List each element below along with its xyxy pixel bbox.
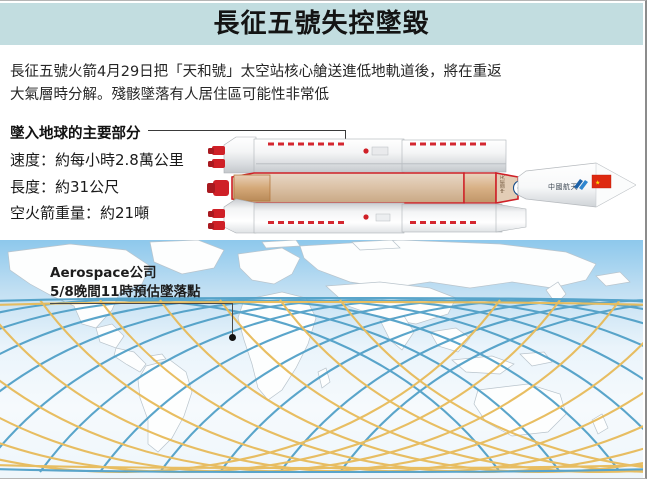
svg-text:中國航天: 中國航天 [548,182,578,191]
impact-leader-line-vertical [232,303,233,337]
stat-speed: 速度：約每小時2.8萬公里 [10,147,184,174]
stat-length: 長度：約31公尺 [10,174,184,201]
lede-paragraph: 長征五號火箭4月29日把「天和號」太空站核心艙送進低地軌道後，將在重返 大氣層時… [10,61,632,107]
infographic-page: 長征五號失控墜毀 長征五號火箭4月29日把「天和號」太空站核心艙送進低地軌道後，… [0,0,647,479]
impact-annotation-line-1: Aerospace公司 [50,264,201,283]
rocket-illustration: 中國航天 [196,133,636,237]
page-title: 長征五號失控墜毀 [0,3,643,45]
svg-text:★: ★ [595,180,600,187]
china-flag: ★ [592,175,611,188]
impact-annotation-line-2: 5/8晚間11時預估墜落點 [50,283,201,302]
impact-point-marker [229,334,236,341]
svg-text:中國航天: 中國航天 [499,175,506,193]
lede-line-2: 大氣層時分解。殘骸墜落有人居住區可能性非常低 [10,84,632,107]
rocket-core-stage: 中國航天 [207,173,529,203]
stats-heading: 墜入地球的主要部分 [10,122,141,143]
lede-line-1: 長征五號火箭4月29日把「天和號」太空站核心艙送進低地軌道後，將在重返 [10,61,632,84]
stats-leader-line-horizontal [148,130,346,131]
impact-leader-line-horizontal [50,303,233,304]
rocket-booster-upper [208,137,506,173]
stats-list: 速度：約每小時2.8萬公里 長度：約31公尺 空火箭重量：約21噸 [10,147,184,227]
stat-mass: 空火箭重量：約21噸 [10,200,184,227]
impact-annotation: Aerospace公司 5/8晚間11時預估墜落點 [50,264,201,302]
rocket-nose-fairing: 中國航天 ★ [518,163,636,207]
rocket-booster-lower [208,199,526,233]
